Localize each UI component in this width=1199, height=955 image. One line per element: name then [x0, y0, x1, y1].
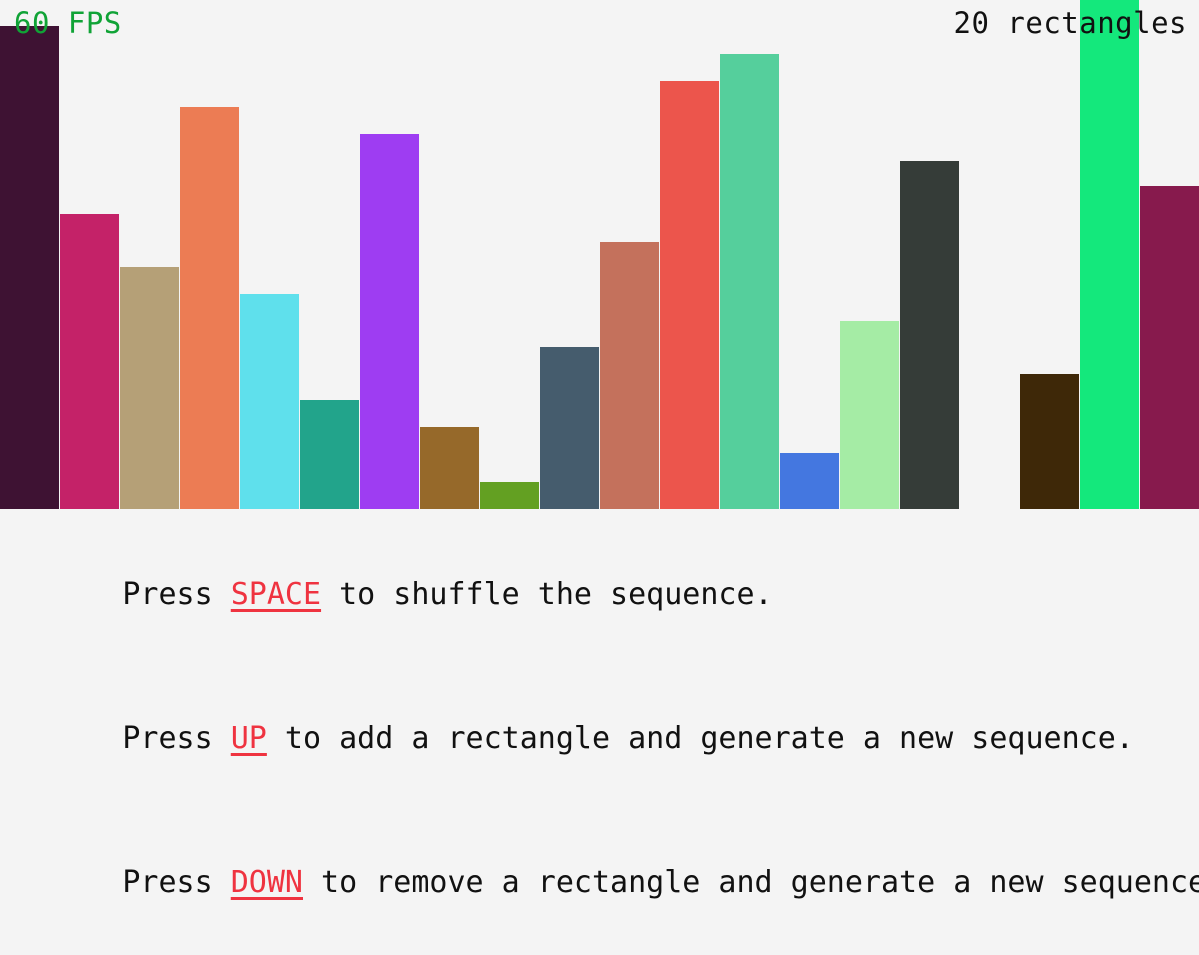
key-up[interactable]: UP	[231, 721, 267, 756]
chart-bar	[540, 347, 599, 509]
chart-bar	[600, 242, 659, 509]
chart-bar	[300, 400, 359, 509]
chart-bar	[780, 453, 839, 509]
chart-bar	[240, 294, 299, 509]
chart-bar	[900, 161, 959, 509]
instruction-prefix: Press	[122, 721, 230, 756]
fps-counter: 60 FPS	[14, 9, 122, 38]
chart-bar	[840, 321, 899, 509]
key-space[interactable]: SPACE	[231, 577, 321, 612]
instruction-suffix: to add a rectangle and generate a new se…	[267, 721, 1134, 756]
rectangle-chart	[0, 0, 1199, 509]
rectangle-count-label: 20 rectangles	[954, 9, 1187, 38]
chart-bar	[720, 54, 779, 509]
chart-bar	[180, 107, 239, 509]
instruction-suffix: to shuffle the sequence.	[321, 577, 773, 612]
chart-bar	[1140, 186, 1199, 509]
chart-bar	[480, 482, 539, 509]
chart-bar	[1020, 374, 1079, 509]
app-canvas: 60 FPS 20 rectangles Press SPACE to shuf…	[0, 0, 1199, 675]
key-down[interactable]: DOWN	[231, 865, 303, 900]
chart-bar	[1080, 0, 1139, 509]
chart-bar	[660, 81, 719, 509]
instruction-prefix: Press	[122, 577, 230, 612]
instruction-line-remove: Press DOWN to remove a rectangle and gen…	[14, 811, 1199, 955]
chart-bar	[60, 214, 119, 509]
chart-bar	[0, 26, 59, 509]
instruction-suffix: to remove a rectangle and generate a new…	[303, 865, 1199, 900]
instruction-prefix: Press	[122, 865, 230, 900]
instructions-panel: Press SPACE to shuffle the sequence. Pre…	[0, 509, 1199, 675]
chart-bar	[420, 427, 479, 509]
chart-bar	[360, 134, 419, 509]
instruction-line-shuffle: Press SPACE to shuffle the sequence.	[14, 523, 1199, 667]
instruction-line-add: Press UP to add a rectangle and generate…	[14, 667, 1199, 811]
chart-bar	[120, 267, 179, 509]
